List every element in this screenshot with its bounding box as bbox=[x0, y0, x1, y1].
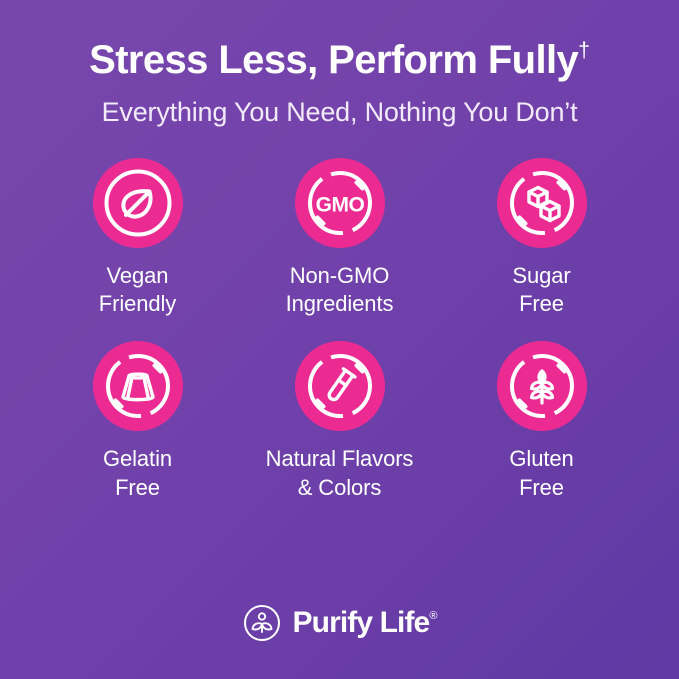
leaf-icon bbox=[93, 158, 183, 248]
registered-trademark-symbol: ® bbox=[429, 610, 437, 622]
badge-label: Natural Flavors & Colors bbox=[266, 445, 414, 502]
badge-label: Sugar Free bbox=[512, 262, 570, 319]
svg-text:GMO: GMO bbox=[315, 193, 364, 216]
no-wheat-icon bbox=[497, 341, 587, 431]
badge-gelatin-free: Gelatin Free bbox=[37, 341, 239, 502]
badge-gluten-free: Gluten Free bbox=[441, 341, 643, 502]
no-gelatin-icon bbox=[93, 341, 183, 431]
badge-vegan-friendly: Vegan Friendly bbox=[37, 158, 239, 319]
poster-header: Stress Less, Perform Fully† Everything Y… bbox=[0, 0, 679, 128]
page-subtitle: Everything You Need, Nothing You Don’t bbox=[0, 97, 679, 128]
badge-sugar-free: Sugar Free bbox=[441, 158, 643, 319]
purify-life-logo-icon bbox=[242, 603, 282, 643]
brand-name-text: Purify Life bbox=[293, 606, 430, 639]
benefit-badge-grid: Vegan Friendly GMO Non-GMO Ingredients bbox=[37, 158, 643, 502]
badge-non-gmo: GMO Non-GMO Ingredients bbox=[239, 158, 441, 319]
brand-logo: Purify Life® bbox=[0, 603, 679, 643]
brand-name: Purify Life® bbox=[293, 606, 438, 640]
badge-label: Vegan Friendly bbox=[99, 262, 176, 319]
badge-natural-flavors: Natural Flavors & Colors bbox=[239, 341, 441, 502]
no-gmo-icon: GMO bbox=[295, 158, 385, 248]
page-title: Stress Less, Perform Fully† bbox=[0, 38, 679, 83]
dagger-superscript: † bbox=[578, 39, 590, 62]
badge-label: Non-GMO Ingredients bbox=[286, 262, 394, 319]
page-title-text: Stress Less, Perform Fully bbox=[89, 38, 578, 82]
no-test-tube-icon bbox=[295, 341, 385, 431]
promo-poster: Stress Less, Perform Fully† Everything Y… bbox=[0, 0, 679, 679]
badge-label: Gelatin Free bbox=[103, 445, 172, 502]
badge-label: Gluten Free bbox=[509, 445, 573, 502]
no-sugar-icon bbox=[497, 158, 587, 248]
